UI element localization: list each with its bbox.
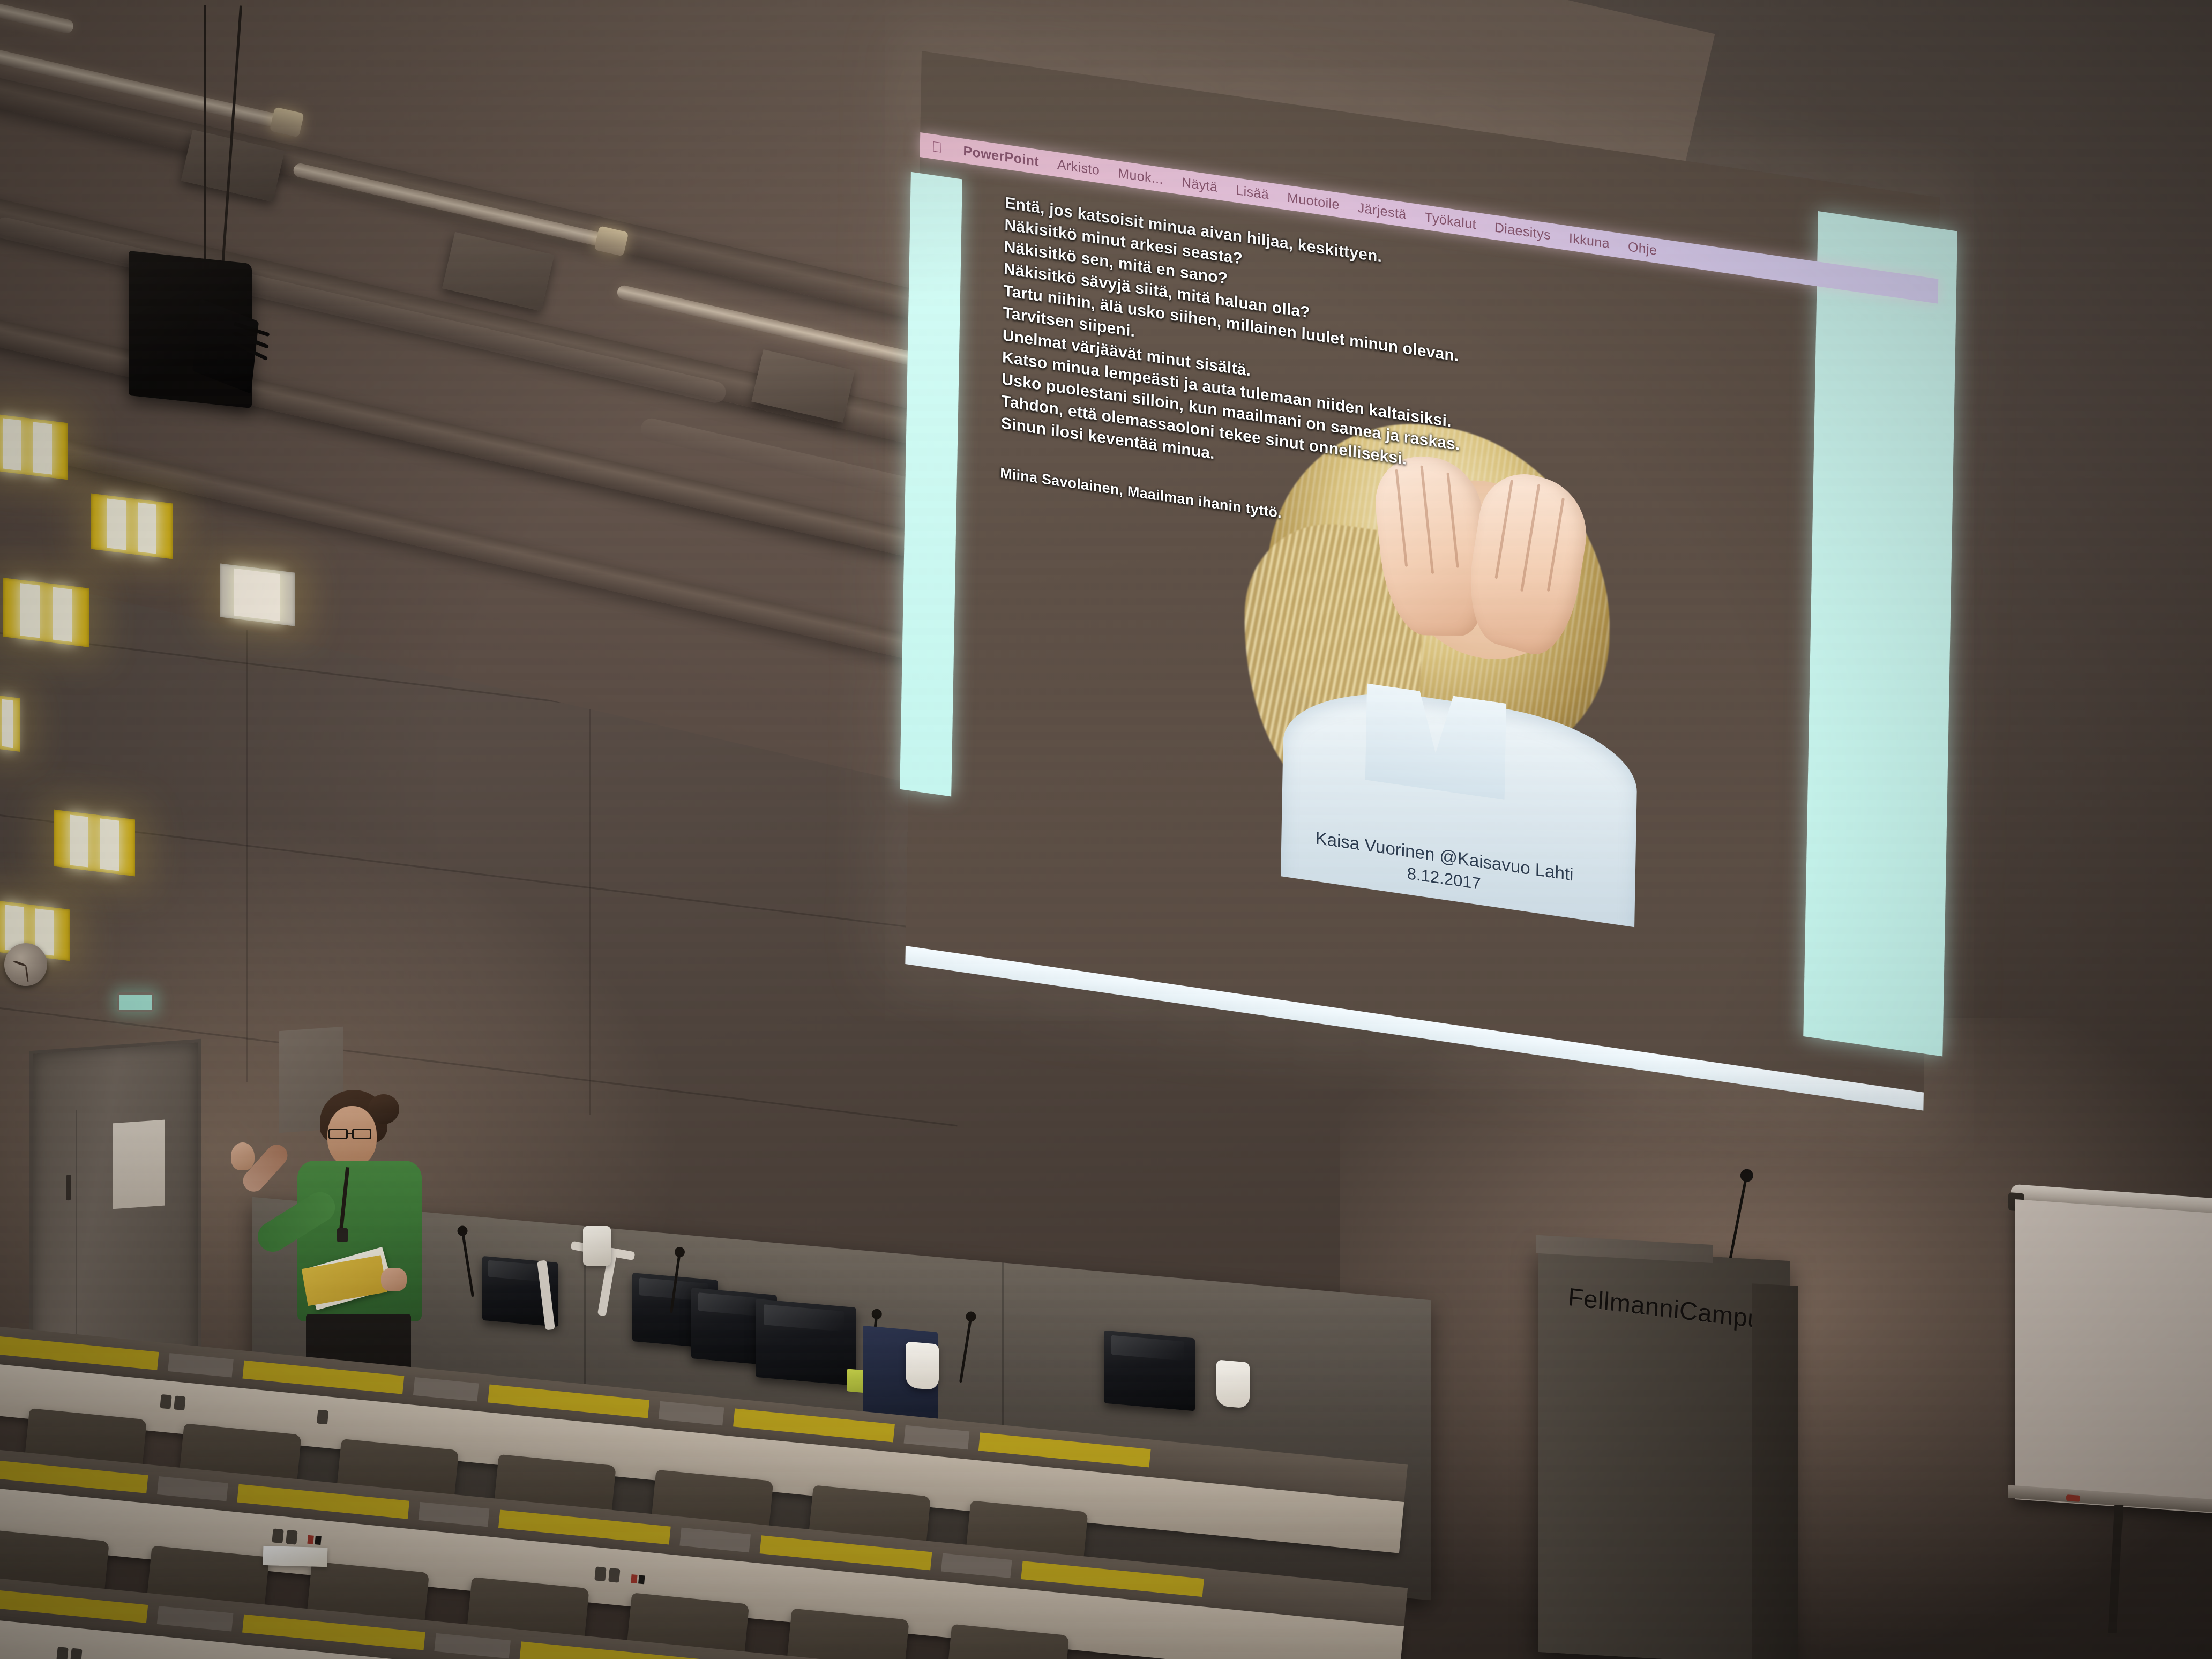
wall-lightbox-white: [220, 563, 295, 626]
slide-cyan-stripe-left: [900, 172, 962, 797]
wall-lightbox: [3, 578, 89, 647]
flipchart-paper: [2015, 1199, 2212, 1514]
fluorescent-tube: [0, 48, 284, 129]
door-panel-line: [76, 1110, 77, 1340]
menu-item-ikkuna[interactable]: Ikkuna: [1569, 230, 1610, 252]
seating-row: [0, 1324, 1408, 1464]
desk-button-black[interactable]: [638, 1575, 645, 1584]
flipchart-marker: [2066, 1494, 2080, 1502]
flipchart-leg: [2108, 1505, 2124, 1633]
powerpoint-slide:  PowerPoint Arkisto Muok... Näytä Lisää…: [905, 51, 1940, 1109]
desk-jack: [608, 1568, 620, 1583]
clock-hour-hand: [13, 960, 26, 967]
podium-side-panel: [1752, 1283, 1798, 1659]
ceiling-projector-box: [442, 232, 554, 311]
flipchart-stand: [2015, 1195, 2212, 1629]
wall-clock: [4, 943, 47, 986]
fluorescent-tube: [292, 162, 608, 248]
document-camera: [583, 1226, 611, 1266]
desk-jack: [70, 1648, 82, 1659]
wall-lightbox: [0, 695, 20, 752]
menu-item-ohje[interactable]: Ohje: [1628, 239, 1657, 259]
desk-jack: [174, 1395, 185, 1410]
wall-lightbox: [91, 494, 173, 559]
menu-item-diaesitys[interactable]: Diaesitys: [1494, 220, 1551, 243]
presenter-holding-hand: [381, 1268, 407, 1291]
desk-jack: [160, 1394, 171, 1409]
exit-sign: [117, 992, 154, 1012]
menu-item-muotoile[interactable]: Muotoile: [1287, 190, 1340, 213]
menu-item-muokkaa[interactable]: Muok...: [1118, 166, 1163, 188]
lecture-hall-photo:  PowerPoint Arkisto Muok... Näytä Lisää…: [0, 0, 2212, 1659]
podium-venue-label: FellmanniCampus: [1567, 1282, 1776, 1336]
projection-screen:  PowerPoint Arkisto Muok... Näytä Lisää…: [905, 51, 1940, 1109]
desk-jack: [272, 1528, 283, 1543]
menu-item-powerpoint[interactable]: PowerPoint: [963, 143, 1039, 169]
door-window-panel: [113, 1120, 165, 1209]
leaflet: [263, 1546, 327, 1567]
speaker-fins: [234, 322, 282, 370]
menu-item-jarjesta[interactable]: Järjestä: [1358, 200, 1407, 222]
clock-minute-hand: [25, 965, 29, 982]
ceiling-projector-box: [751, 349, 855, 423]
desk-jack: [286, 1530, 297, 1545]
exit-door[interactable]: [29, 1039, 201, 1372]
presenter-badge: [337, 1228, 348, 1242]
desk-jack: [317, 1410, 328, 1425]
hanging-speaker: [129, 257, 289, 450]
desk-button-black[interactable]: [315, 1536, 322, 1545]
wall-lightbox: [0, 413, 68, 480]
fluorescent-tube-cap: [270, 107, 304, 137]
speaker-cable: [204, 5, 206, 268]
presenter-raised-hand: [231, 1142, 255, 1170]
menu-item-lisaa[interactable]: Lisää: [1236, 182, 1269, 203]
slide-cyan-panel-right: [1803, 211, 1957, 1056]
apple-logo-icon[interactable]: : [932, 139, 943, 155]
desk-button-red[interactable]: [307, 1535, 314, 1544]
menu-item-tyokalut[interactable]: Työkalut: [1424, 210, 1476, 233]
podium: FellmanniCampus: [1538, 1247, 1790, 1659]
door-handle[interactable]: [66, 1175, 71, 1201]
auditorium-seating: [0, 1324, 1415, 1659]
desk-jack: [594, 1566, 606, 1581]
fluorescent-tube-cap: [594, 226, 629, 256]
desk-button-red[interactable]: [631, 1574, 638, 1583]
menu-item-arkisto[interactable]: Arkisto: [1057, 156, 1100, 178]
desk-jack: [56, 1647, 68, 1659]
menu-item-nayta[interactable]: Näytä: [1182, 175, 1218, 196]
presenter-glasses: [328, 1129, 375, 1139]
wall-lightbox: [54, 810, 135, 877]
